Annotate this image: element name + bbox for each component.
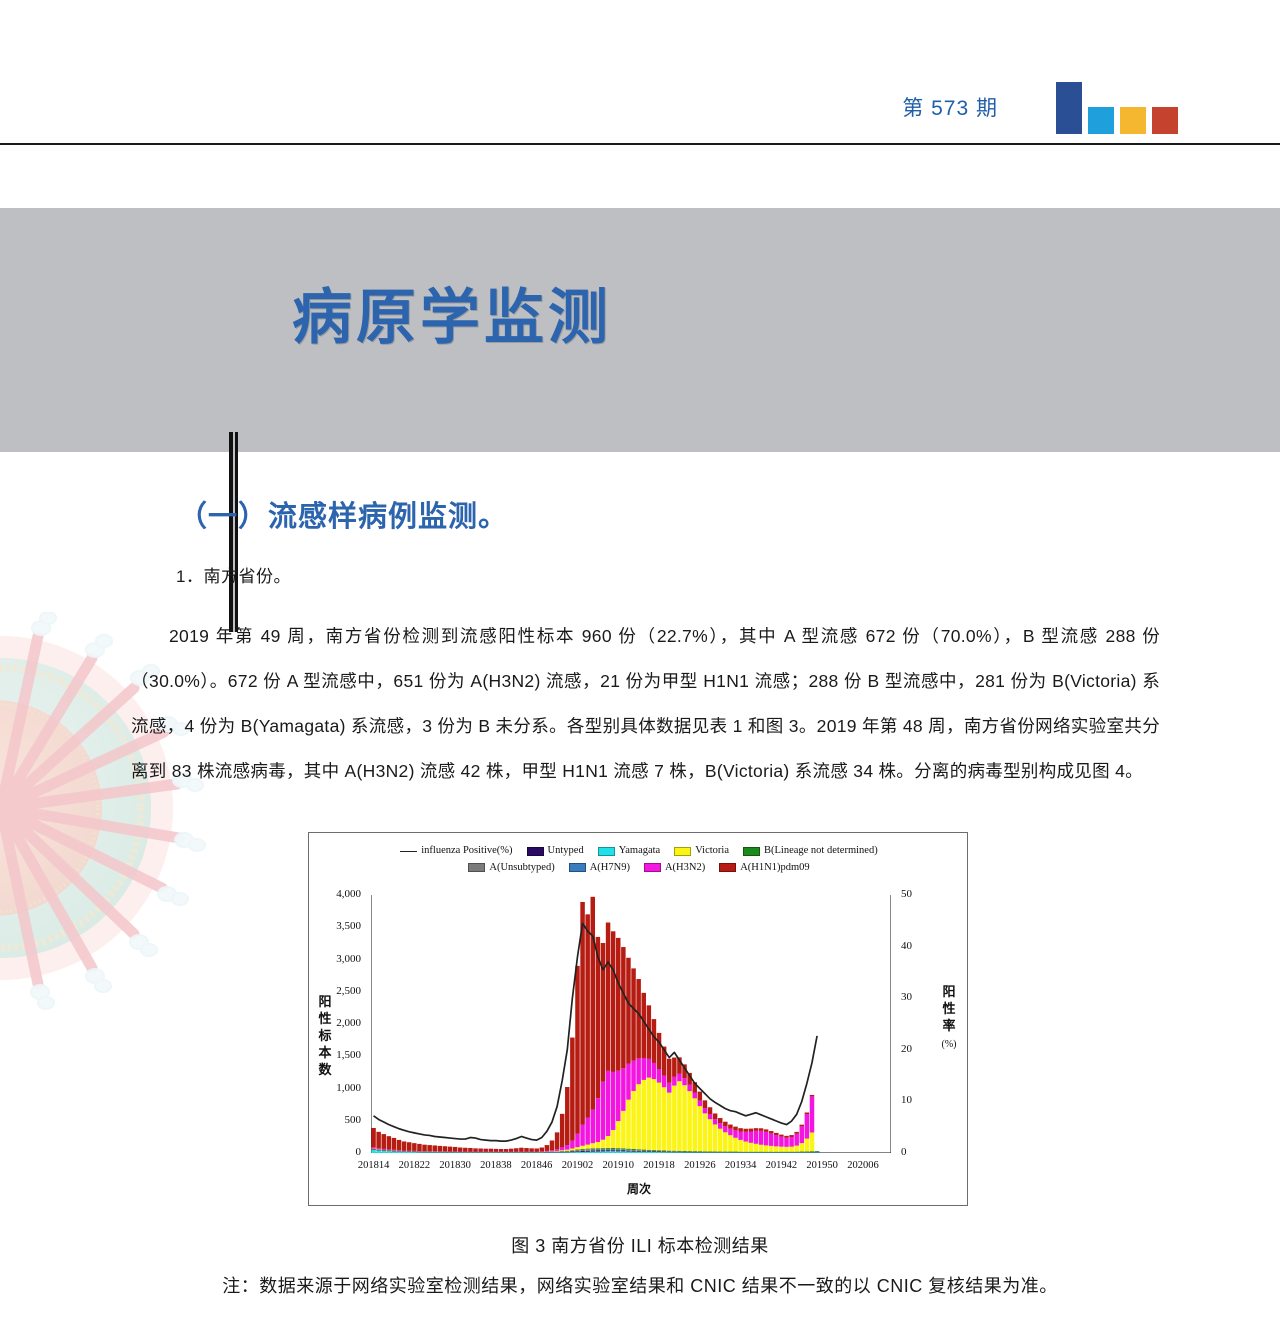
legend-swatch	[743, 847, 760, 856]
y-axis-right-unit: (%)	[942, 1039, 957, 1050]
legend-label: Yamagata	[619, 845, 661, 856]
y-axis-left-tick: 0	[319, 1146, 361, 1158]
numbered-list-item: 1．南方省份。	[176, 562, 291, 587]
legend-label: A(H3N2)	[665, 862, 705, 873]
x-axis-tick: 202006	[835, 1160, 891, 1171]
legend-item: A(H1N1)pdm09	[719, 860, 809, 876]
legend-item: A(H3N2)	[644, 860, 705, 876]
legend-item: A(H7N9)	[569, 860, 630, 876]
legend-item: Yamagata	[598, 843, 661, 859]
y-axis-left-tick: 500	[319, 1114, 361, 1126]
header-divider	[0, 143, 1280, 145]
legend-item: influenza Positive(%)	[400, 843, 512, 859]
y-axis-right-tick: 0	[901, 1146, 931, 1158]
logo-bar-3	[1120, 107, 1146, 134]
y-axis-right-title-text: 阳性率	[942, 984, 955, 1033]
figure-caption: 图 3 南方省份 ILI 标本检测结果	[0, 1232, 1280, 1258]
brand-logo-icon	[1056, 82, 1176, 134]
y-axis-right-tick: 10	[901, 1094, 931, 1106]
plot-area: 05001,0001,5002,0002,5003,0003,5004,0000…	[371, 895, 891, 1153]
legend-swatch	[674, 847, 691, 856]
figure-note: 注：数据来源于网络实验室检测结果，网络实验室结果和 CNIC 结果不一致的以 C…	[0, 1272, 1280, 1298]
legend-item: A(Unsubtyped)	[468, 860, 554, 876]
legend-item: Untyped	[527, 843, 584, 859]
chart-svg	[371, 895, 891, 1153]
y-axis-left-tick: 2,000	[319, 1017, 361, 1029]
y-axis-left-title: 阳性标本数	[317, 993, 333, 1078]
legend-label: A(H7N9)	[590, 862, 630, 873]
y-axis-right-tick: 50	[901, 888, 931, 900]
legend-label: Victoria	[695, 845, 729, 856]
y-axis-left-tick: 3,500	[319, 920, 361, 932]
legend-label: A(H1N1)pdm09	[740, 862, 809, 873]
legend-swatch	[719, 863, 736, 872]
y-axis-right-title: 阳性率 (%)	[937, 983, 961, 1053]
body-paragraph: 2019 年第 49 周，南方省份检测到流感阳性标本 960 份（22.7%），…	[131, 614, 1160, 794]
legend-label: Untyped	[548, 845, 584, 856]
y-axis-left-tick: 3,000	[319, 953, 361, 965]
figure-3-chart: influenza Positive(%)UntypedYamagataVict…	[308, 832, 968, 1206]
logo-bar-4	[1152, 107, 1178, 134]
legend-swatch	[468, 863, 485, 872]
y-axis-left-tick: 2,500	[319, 985, 361, 997]
y-axis-right-tick: 20	[901, 1043, 931, 1055]
legend-line-marker	[400, 851, 417, 852]
issue-number-label: 第 573 期	[902, 92, 998, 122]
y-axis-right-tick: 40	[901, 940, 931, 952]
y-axis-left-tick: 1,500	[319, 1049, 361, 1061]
y-axis-left-tick: 4,000	[319, 888, 361, 900]
chart-legend: influenza Positive(%)UntypedYamagataVict…	[309, 843, 969, 876]
legend-label: B(Lineage not determined)	[764, 845, 878, 856]
legend-swatch	[598, 847, 615, 856]
legend-swatch	[644, 863, 661, 872]
logo-bar-1	[1056, 82, 1082, 134]
legend-label: influenza Positive(%)	[421, 845, 512, 856]
page-header: 第 573 期	[0, 0, 1280, 145]
section-banner	[0, 208, 1280, 452]
legend-item: Victoria	[674, 843, 729, 859]
y-axis-right-tick: 30	[901, 991, 931, 1003]
y-axis-left-tick: 1,000	[319, 1082, 361, 1094]
legend-swatch	[569, 863, 586, 872]
legend-label: A(Unsubtyped)	[489, 862, 554, 873]
subsection-heading: （一）流感样病例监测。	[178, 493, 508, 535]
legend-swatch	[527, 847, 544, 856]
section-title: 病原学监测	[292, 288, 612, 348]
x-axis-title: 周次	[309, 1180, 969, 1197]
legend-item: B(Lineage not determined)	[743, 843, 878, 859]
logo-bar-2	[1088, 107, 1114, 134]
